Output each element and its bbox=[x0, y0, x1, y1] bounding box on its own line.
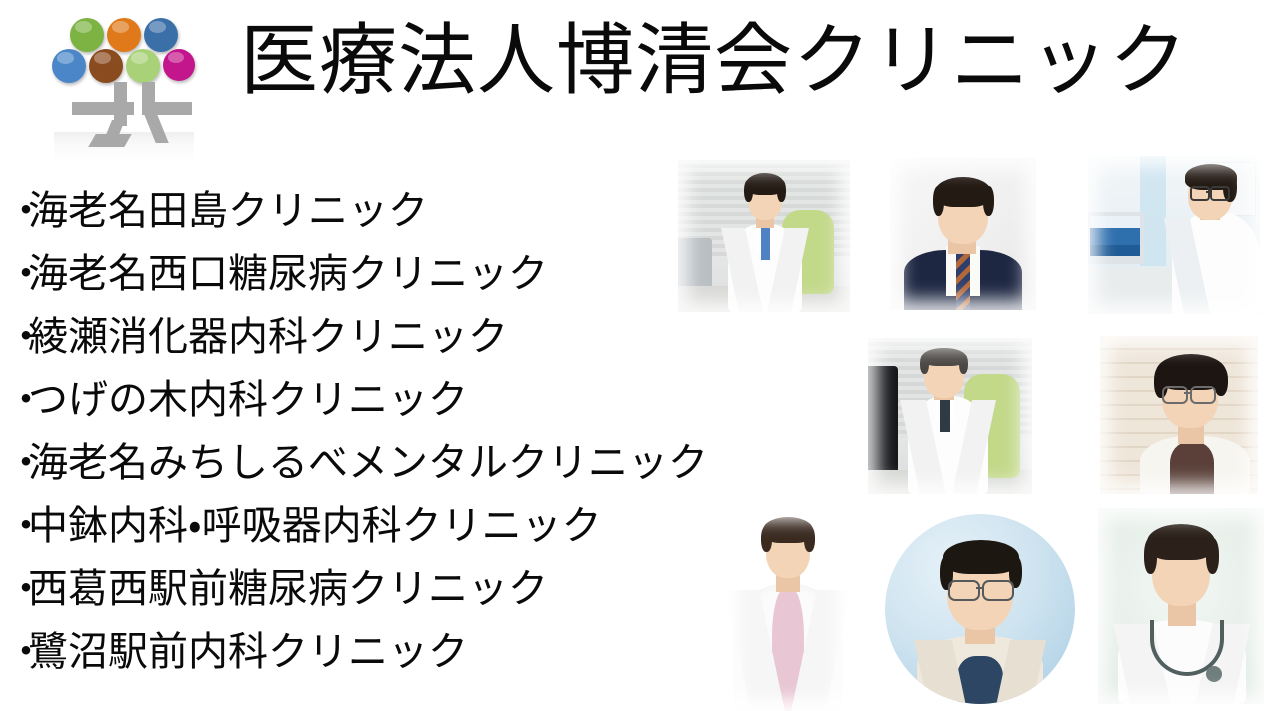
list-item: ・ 海老名みちしるべメンタルクリニック bbox=[6, 432, 666, 495]
clinic-list: ・ 海老名田島クリニック ・ 海老名西口糖尿病クリニック ・ 綾瀬消化器内科クリ… bbox=[6, 180, 666, 684]
hakuseikai-logo bbox=[46, 14, 196, 154]
bullet-icon: ・ bbox=[6, 621, 28, 684]
logo-dot-3 bbox=[144, 18, 178, 52]
doctor-photo bbox=[1098, 508, 1264, 704]
clinic-name: 綾瀬消化器内科クリニック bbox=[28, 306, 508, 369]
bullet-icon: ・ bbox=[6, 495, 28, 558]
bullet-icon: ・ bbox=[6, 306, 28, 369]
clinic-name: 海老名田島クリニック bbox=[28, 180, 428, 243]
clinic-name: 海老名みちしるべメンタルクリニック bbox=[28, 432, 708, 495]
slide-root: 医療法人博清会クリニック ・ 海老名田島クリニック ・ 海老名西口糖尿病クリニッ… bbox=[0, 0, 1280, 711]
clinic-name: 海老名西口糖尿病クリニック bbox=[28, 243, 548, 306]
clinic-name: 中鉢内科・呼吸器内科クリニック bbox=[28, 495, 602, 558]
stethoscope-bell-icon bbox=[1206, 666, 1222, 682]
bullet-icon: ・ bbox=[6, 432, 28, 495]
doctor-photo bbox=[1088, 156, 1260, 314]
glasses-icon bbox=[1162, 386, 1188, 404]
glasses-icon bbox=[1190, 386, 1216, 404]
doctor-photo bbox=[728, 508, 848, 711]
doctor-photo bbox=[868, 338, 1032, 494]
clinic-name: つげの木内科クリニック bbox=[28, 369, 468, 432]
list-item: ・ 中鉢内科・呼吸器内科クリニック bbox=[6, 495, 666, 558]
bullet-icon: ・ bbox=[6, 558, 28, 621]
bullet-icon: ・ bbox=[6, 243, 28, 306]
list-item: ・ 綾瀬消化器内科クリニック bbox=[6, 306, 666, 369]
list-item: ・ 西葛西駅前糖尿病クリニック bbox=[6, 558, 666, 621]
list-item: ・ つげの木内科クリニック bbox=[6, 369, 666, 432]
slide-header: 医療法人博清会クリニック bbox=[0, 0, 1280, 155]
logo-dot-2 bbox=[107, 18, 141, 52]
glasses-icon bbox=[948, 580, 980, 601]
doctor-photo-collage bbox=[660, 150, 1280, 711]
bullet-icon: ・ bbox=[6, 369, 28, 432]
logo-reflection bbox=[54, 132, 194, 166]
clinic-name: 西葛西駅前糖尿病クリニック bbox=[28, 558, 548, 621]
logo-dots-group bbox=[46, 14, 196, 84]
bullet-icon: ・ bbox=[6, 180, 28, 243]
clinic-name: 鷺沼駅前内科クリニック bbox=[28, 621, 468, 684]
doctor-photo bbox=[1100, 336, 1258, 494]
glasses-icon bbox=[1190, 186, 1210, 201]
doctor-photo bbox=[678, 160, 850, 312]
doctor-photo bbox=[890, 158, 1036, 310]
glasses-icon bbox=[1210, 186, 1230, 201]
list-item: ・ 鷺沼駅前内科クリニック bbox=[6, 621, 666, 684]
doctor-photo-circular bbox=[885, 514, 1075, 704]
list-item: ・ 海老名田島クリニック bbox=[6, 180, 666, 243]
list-item: ・ 海老名西口糖尿病クリニック bbox=[6, 243, 666, 306]
page-title: 医療法人博清会クリニック bbox=[240, 18, 1188, 104]
logo-dot-1 bbox=[70, 18, 104, 52]
glasses-icon bbox=[982, 580, 1014, 601]
